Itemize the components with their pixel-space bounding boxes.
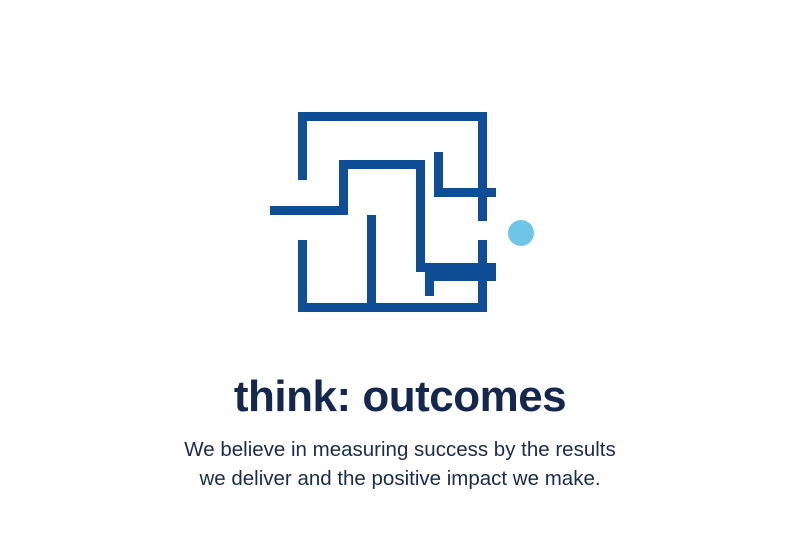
slide-canvas: think: outcomes We believe in measuring …: [0, 0, 800, 536]
page-title: think: outcomes: [0, 372, 800, 421]
text-block: think: outcomes We believe in measuring …: [0, 372, 800, 493]
tagline-line-2: we deliver and the positive impact we ma…: [0, 464, 800, 493]
think-outcomes-maze-logo: [250, 96, 550, 336]
logo-block: [0, 96, 800, 336]
accent-dot-icon: [508, 220, 534, 246]
page-tagline: We believe in measuring success by the r…: [0, 421, 800, 493]
maze-strokes: [270, 112, 496, 312]
tagline-line-1: We believe in measuring success by the r…: [0, 435, 800, 464]
